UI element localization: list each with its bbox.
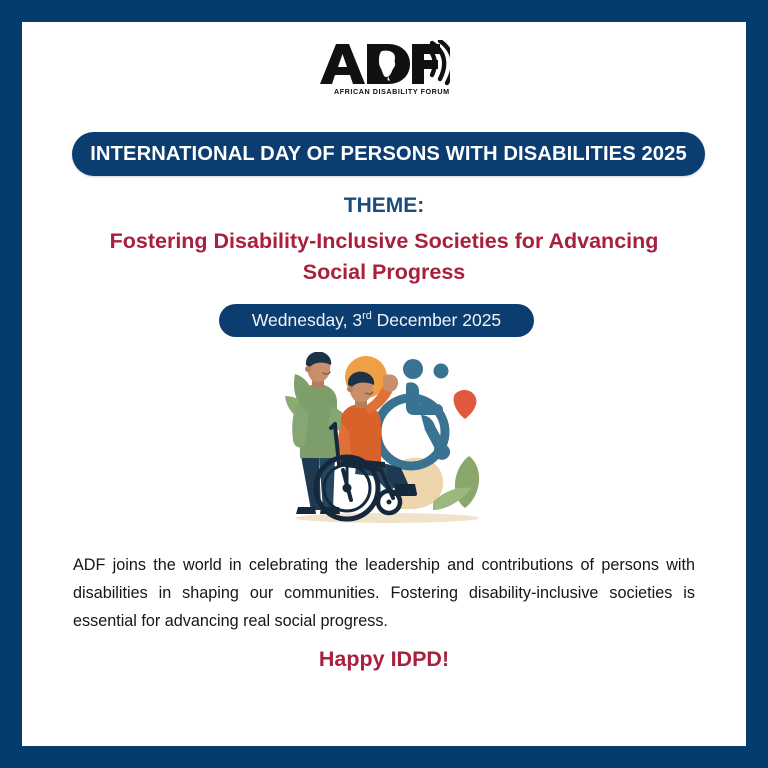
poster-frame: AFRICAN DISABILITY FORUM INTERNATIONAL D…	[0, 0, 768, 768]
illustration	[269, 352, 499, 532]
date-day-number: 3	[352, 310, 362, 330]
date-weekday: Wednesday,	[252, 310, 348, 330]
heart-icon	[454, 390, 477, 419]
theme-statement: Fostering Disability-Inclusive Societies…	[106, 226, 662, 287]
date-ordinal-suffix: rd	[362, 310, 372, 322]
event-date-text: Wednesday, 3rd December 2025	[252, 310, 501, 331]
poster-card: AFRICAN DISABILITY FORUM INTERNATIONAL D…	[22, 22, 746, 746]
closing-greeting: Happy IDPD!	[22, 647, 746, 672]
title-banner-text: INTERNATIONAL DAY OF PERSONS WITH DISABI…	[90, 143, 687, 166]
logo-tagline-text: AFRICAN DISABILITY FORUM	[334, 87, 450, 96]
theme-label: THEME:	[22, 194, 746, 218]
date-month-year: December 2025	[377, 310, 502, 330]
title-banner: INTERNATIONAL DAY OF PERSONS WITH DISABI…	[72, 132, 705, 176]
event-date-badge: Wednesday, 3rd December 2025	[219, 304, 534, 337]
adf-logo: AFRICAN DISABILITY FORUM	[318, 40, 450, 98]
body-paragraph: ADF joins the world in celebrating the l…	[73, 552, 695, 636]
logo-container: AFRICAN DISABILITY FORUM	[22, 40, 746, 102]
